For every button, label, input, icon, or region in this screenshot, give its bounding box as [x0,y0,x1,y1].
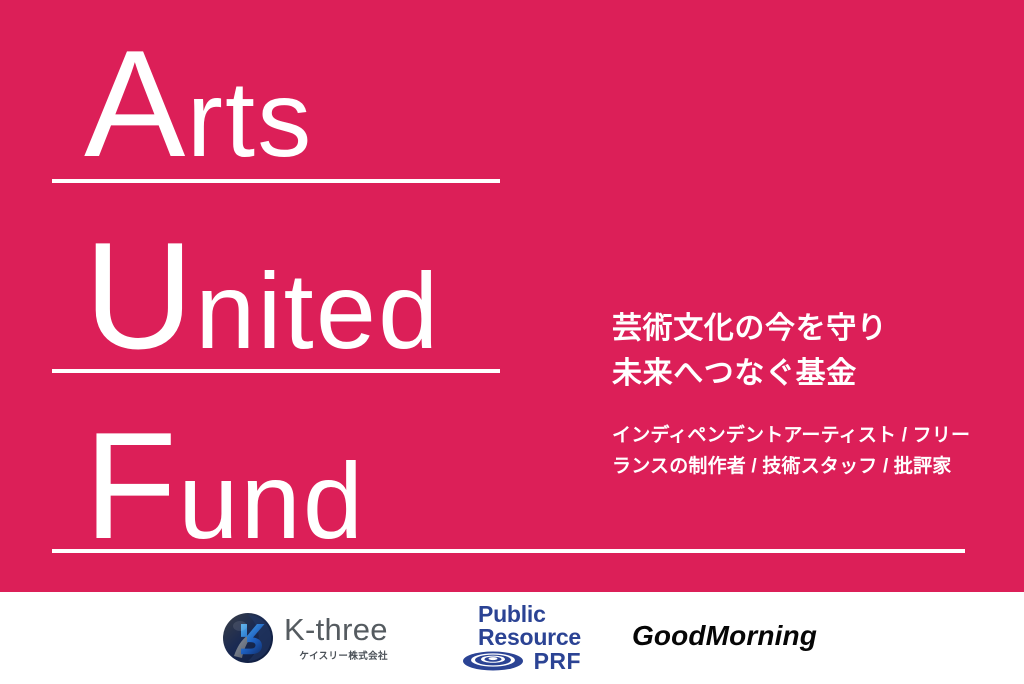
prf-line-2: Resource [478,626,581,649]
prf-line-1: Public [478,603,581,626]
logotype-arts-capital: A [84,19,187,189]
logotype-fund-rest: und [178,440,365,561]
tagline-block: 芸術文化の今を守り 未来へつなぐ基金 インディペンデントアーティスト / フリー… [612,306,972,483]
tagline-headline: 芸術文化の今を守り 未来へつなぐ基金 [612,306,972,396]
logotype-line-united: United [84,220,440,372]
logo-public-resource-prf[interactable]: Public Resource PRF [462,603,568,671]
logotype-united-capital: U [84,211,195,381]
divider-rule-middle [52,369,500,373]
poster-canvas: Arts United Fund 芸術文化の今を守り 未来へつなぐ基金 インディ… [0,0,1024,684]
logo-k-three[interactable]: K-three ケイスリー株式会社 [222,612,388,664]
logotype-line-fund: Fund [84,410,365,562]
divider-rule-bottom [52,549,965,553]
logotype-line-arts: Arts [84,28,313,180]
k-three-wordmark: K-three ケイスリー株式会社 [284,614,388,663]
logotype-fund-capital: F [84,401,178,571]
goodmorning-wordmark: GoodMorning [632,620,817,652]
k-three-circle-mark-icon [222,612,274,664]
prf-wordmark: Public Resource PRF [478,603,581,673]
k-three-jp-name: ケイスリー株式会社 [299,648,387,662]
divider-rule-top [52,179,500,183]
logotype-arts-rest: rts [187,58,313,179]
k-three-name: K-three [284,614,388,647]
tagline-subtext: インディペンデントアーティスト / フリーランスの制作者 / 技術スタッフ / … [612,420,972,483]
logo-goodmorning[interactable]: GoodMorning [632,620,817,652]
logotype-block: Arts United Fund [0,0,1024,592]
logotype-united-rest: nited [195,250,440,371]
prf-line-3: PRF [478,650,581,673]
